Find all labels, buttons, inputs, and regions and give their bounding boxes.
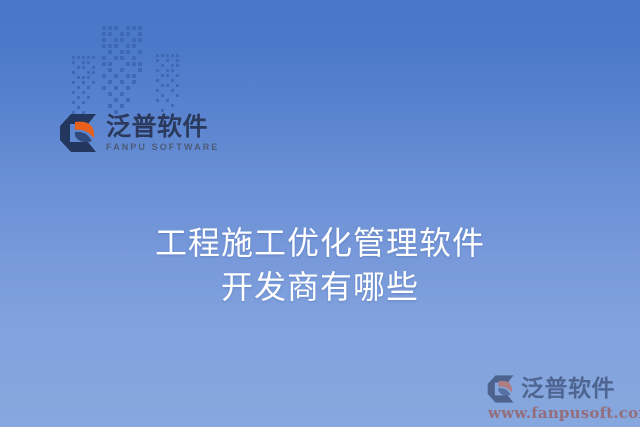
page-title: 工程施工优化管理软件 开发商有哪些 <box>0 221 640 309</box>
page-title-line-1: 工程施工优化管理软件 <box>0 221 640 265</box>
brand-logo-lockup: 泛普软件 FANPU SOFTWARE <box>58 112 219 154</box>
brand-wordmark: 泛普软件 FANPU SOFTWARE <box>106 114 219 152</box>
watermark-url: www.fanpusoft.com <box>488 406 640 421</box>
pixel-city-decoration <box>72 24 190 120</box>
brand-name-en: FANPU SOFTWARE <box>106 143 219 152</box>
fanpu-logo-icon <box>486 374 518 404</box>
fanpu-logo-icon <box>58 112 102 154</box>
watermark-logo-row: 泛普软件 <box>486 374 615 404</box>
brand-name-cn: 泛普软件 <box>106 114 219 140</box>
promo-banner: 泛普软件 FANPU SOFTWARE 工程施工优化管理软件 开发商有哪些 泛普… <box>0 0 640 427</box>
watermark: 泛普软件 www.fanpusoft.com <box>486 374 632 421</box>
page-title-line-2: 开发商有哪些 <box>0 265 640 309</box>
watermark-brand-name: 泛普软件 <box>521 378 615 401</box>
